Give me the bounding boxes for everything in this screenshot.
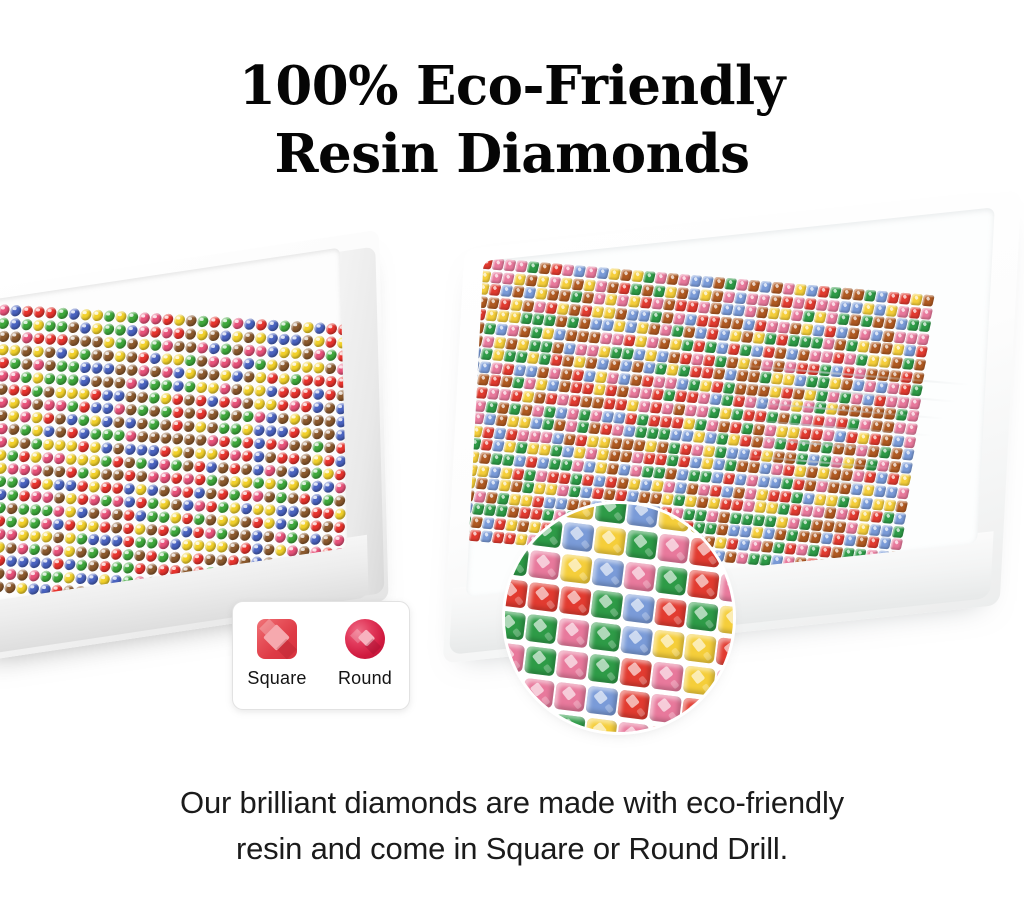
zoom-drill-bead: [685, 601, 718, 631]
zoom-drill-bead: [653, 597, 686, 627]
drill-bead: [136, 418, 149, 430]
drill-bead: [147, 471, 160, 483]
drill-bead: [0, 423, 8, 435]
drill-bead: [171, 433, 184, 445]
drill-bead: [157, 551, 170, 563]
drill-bead: [207, 356, 220, 368]
zoom-drill-bead: [717, 605, 733, 635]
drill-bead: [466, 359, 468, 371]
drill-bead: [8, 371, 21, 383]
drill-bead: [111, 509, 124, 521]
drill-bead: [68, 321, 81, 333]
zoom-drill-bead: [658, 504, 691, 532]
drill-bead: [171, 420, 184, 432]
drill-bead: [466, 308, 475, 320]
drill-bead: [41, 505, 54, 517]
drill-bead: [208, 316, 221, 328]
drill-bead: [195, 408, 208, 420]
drill-bead: [88, 507, 101, 519]
drill-bead: [64, 493, 77, 505]
drill-bead: [125, 377, 138, 389]
drill-bead: [311, 428, 324, 440]
drill-bead: [0, 396, 9, 408]
drill-bead: [87, 520, 100, 532]
drill-bead: [255, 319, 268, 331]
drill-bead: [918, 320, 931, 332]
drill-bead: [195, 395, 208, 407]
zoom-drill-bead: [525, 614, 558, 644]
zoom-drill-bead: [554, 682, 587, 712]
drill-bead: [21, 319, 34, 331]
drill-bead: [275, 492, 288, 504]
drill-bead: [138, 325, 151, 337]
drill-bead: [53, 466, 66, 478]
drill-bead: [149, 352, 162, 364]
square-drill-gem-icon: [257, 619, 297, 659]
zoom-drill-bead: [679, 729, 712, 732]
drill-bead: [135, 497, 148, 509]
drill-bead: [288, 426, 301, 438]
drill-bead: [111, 495, 124, 507]
drill-bead: [21, 332, 34, 344]
drill-bead: [895, 500, 908, 512]
drill-bead: [6, 503, 19, 515]
drill-bead: [278, 360, 291, 372]
drill-bead: [32, 359, 45, 371]
drill-bead: [172, 393, 185, 405]
drill-bead: [323, 455, 336, 467]
drill-bead: [264, 478, 277, 490]
drill-bead: [122, 549, 135, 561]
drill-bead: [64, 519, 77, 531]
drill-bead: [218, 396, 231, 408]
drill-bead: [159, 432, 172, 444]
zoom-drill-bead: [626, 504, 659, 528]
drill-bead: [921, 295, 934, 307]
drill-bead: [252, 504, 265, 516]
drill-bead: [5, 542, 18, 554]
drill-bead: [278, 333, 291, 345]
drill-bead: [267, 320, 280, 332]
drill-bead: [466, 321, 473, 333]
drill-bead: [334, 495, 347, 507]
drill-bead: [170, 472, 183, 484]
drill-bead: [90, 389, 103, 401]
drill-bead: [28, 570, 41, 582]
drill-bead: [312, 375, 325, 387]
drill-bead: [28, 583, 41, 595]
drill-bead: [42, 426, 55, 438]
drill-bead: [113, 403, 126, 415]
drill-bead: [323, 442, 336, 454]
drill-bead: [112, 430, 125, 442]
drill-bead: [137, 365, 150, 377]
drill-bead: [322, 508, 335, 520]
drill-bead: [169, 538, 182, 550]
drill-bead: [0, 344, 10, 356]
drill-bead: [288, 440, 301, 452]
drill-bead: [125, 391, 138, 403]
drill-bead: [205, 488, 218, 500]
drill-bead: [32, 372, 45, 384]
drill-bead: [43, 412, 56, 424]
drill-bead: [123, 470, 136, 482]
drill-bead: [65, 480, 78, 492]
drill-bead: [160, 393, 173, 405]
zoom-drill-bead: [656, 533, 689, 563]
drill-bead: [183, 420, 196, 432]
drill-bead: [134, 536, 147, 548]
zoom-drill-bead: [505, 514, 531, 544]
drill-bead: [124, 457, 137, 469]
drill-bead: [103, 337, 116, 349]
drill-bead: [16, 582, 29, 594]
zoom-drill-bead: [587, 654, 620, 684]
drill-bead: [228, 515, 241, 527]
drill-bead: [312, 388, 325, 400]
drill-bead: [114, 364, 127, 376]
drill-bead: [55, 373, 68, 385]
drill-bead: [255, 332, 268, 344]
drill-bead: [133, 563, 146, 575]
drill-bead: [183, 394, 196, 406]
zoom-drill-bead: [520, 710, 553, 732]
drill-bead: [184, 368, 197, 380]
drill-bead: [31, 425, 44, 437]
drill-bead: [181, 526, 194, 538]
drill-bead: [102, 389, 115, 401]
drill-bead: [29, 491, 42, 503]
drill-bead: [136, 444, 149, 456]
drill-bead: [218, 409, 231, 421]
drill-bead: [114, 337, 127, 349]
round-drill-tray: [0, 262, 386, 630]
drill-bead: [242, 411, 255, 423]
drill-bead: [42, 439, 55, 451]
drill-bead: [264, 451, 277, 463]
drill-bead: [194, 474, 207, 486]
drill-bead: [219, 343, 232, 355]
drill-bead: [206, 422, 219, 434]
drill-bead: [466, 437, 470, 449]
drill-bead: [183, 407, 196, 419]
drill-bead: [218, 422, 231, 434]
drill-bead: [192, 540, 205, 552]
drill-bead: [313, 322, 326, 334]
drill-bead: [99, 534, 112, 546]
drill-bead: [19, 411, 32, 423]
drill-bead: [289, 374, 302, 386]
drill-bead: [466, 372, 467, 384]
drill-bead: [75, 546, 88, 558]
drill-bead: [467, 269, 480, 281]
drill-bead: [17, 503, 30, 515]
drill-bead: [126, 325, 139, 337]
drill-bead: [32, 333, 45, 345]
drill-bead: [5, 516, 18, 528]
drill-bead: [53, 479, 66, 491]
drill-bead: [100, 495, 113, 507]
drill-bead: [146, 497, 159, 509]
drill-bead: [312, 401, 325, 413]
drill-bead: [241, 463, 254, 475]
drill-bead: [52, 518, 65, 530]
drill-bead: [310, 480, 323, 492]
drill-bead: [216, 501, 229, 513]
drill-bead: [184, 341, 197, 353]
drill-bead: [206, 448, 219, 460]
drill-bead: [98, 561, 111, 573]
drill-bead: [123, 509, 136, 521]
drill-bead: [299, 493, 312, 505]
drill-bead: [216, 528, 229, 540]
drill-bead: [301, 348, 314, 360]
drill-bead: [20, 385, 33, 397]
drill-bead: [324, 402, 337, 414]
drill-bead: [30, 478, 43, 490]
drill-bead: [170, 459, 183, 471]
drill-bead: [173, 327, 186, 339]
drill-bead: [324, 376, 337, 388]
zoom-drill-bead: [684, 633, 717, 663]
drill-bead: [0, 304, 10, 316]
drill-bead: [21, 306, 34, 318]
drill-bead: [321, 521, 334, 533]
drill-bead: [240, 516, 253, 528]
drill-bead: [299, 467, 312, 479]
zoom-drill-bead: [718, 573, 733, 603]
drill-bead: [301, 388, 314, 400]
zoom-drill-bead: [714, 669, 733, 699]
drill-bead: [229, 463, 242, 475]
drill-bead: [67, 374, 80, 386]
drill-bead: [146, 537, 159, 549]
zoom-drill-bead: [619, 658, 652, 688]
round-drill-gem-icon: [345, 619, 385, 659]
drill-bead: [64, 532, 77, 544]
zoom-drill-bead: [561, 522, 594, 552]
drill-bead: [63, 545, 76, 557]
drill-bead: [311, 454, 324, 466]
drill-bead: [289, 361, 302, 373]
zoom-drill-bead: [712, 701, 733, 731]
drill-bead: [220, 317, 233, 329]
drill-bead: [87, 547, 100, 559]
zoom-drill-bead: [552, 714, 585, 732]
drill-bead: [216, 515, 229, 527]
drill-bead: [299, 453, 312, 465]
drill-bead: [75, 533, 88, 545]
drill-bead: [54, 400, 67, 412]
drill-bead: [241, 424, 254, 436]
drill-bead: [30, 464, 43, 476]
drill-bead: [229, 449, 242, 461]
drill-bead: [41, 518, 54, 530]
drill-bead: [110, 535, 123, 547]
drill-bead: [40, 571, 53, 583]
drill-bead: [194, 447, 207, 459]
drill-bead: [145, 563, 158, 575]
drill-bead: [466, 334, 472, 346]
drill-bead: [263, 504, 276, 516]
drill-bead: [217, 488, 230, 500]
drill-bead: [903, 436, 916, 448]
drill-bead: [149, 339, 162, 351]
drill-bead: [16, 556, 29, 568]
drill-bead: [241, 437, 254, 449]
drill-bead: [123, 483, 136, 495]
drill-bead: [31, 385, 44, 397]
zoom-drill-bead: [526, 582, 559, 612]
drill-bead: [288, 453, 301, 465]
drill-bead: [182, 460, 195, 472]
drill-bead: [6, 476, 19, 488]
drill-bead: [113, 416, 126, 428]
drill-bead: [86, 573, 99, 585]
drill-bead: [915, 346, 928, 358]
drill-bead: [44, 346, 57, 358]
legend-item-square[interactable]: Square: [240, 619, 314, 689]
zoom-drill-bead: [505, 674, 523, 704]
drill-bead: [101, 429, 114, 441]
drill-bead: [67, 348, 80, 360]
drill-bead: [287, 479, 300, 491]
drill-bead: [90, 362, 103, 374]
drill-bead: [322, 468, 335, 480]
drill-bead: [266, 346, 279, 358]
drill-bead: [111, 482, 124, 494]
drill-bead: [40, 544, 53, 556]
drill-bead: [228, 489, 241, 501]
legend-label-round: Round: [338, 668, 392, 689]
drill-bead: [147, 445, 160, 457]
drill-bead: [0, 528, 6, 540]
drill-bead: [79, 348, 92, 360]
drill-bead: [158, 485, 171, 497]
drill-bead: [32, 346, 45, 358]
drill-bead: [89, 415, 102, 427]
drill-bead: [0, 331, 10, 343]
drill-bead: [298, 519, 311, 531]
drill-bead: [286, 519, 299, 531]
drill-bead: [44, 360, 57, 372]
drill-bead: [322, 494, 335, 506]
drill-bead: [890, 539, 903, 551]
drill-bead: [289, 387, 302, 399]
drill-bead: [254, 359, 267, 371]
drill-bead: [99, 521, 112, 533]
drill-bead: [468, 256, 481, 268]
drill-bead: [102, 363, 115, 375]
drill-bead: [77, 441, 90, 453]
drill-bead: [65, 453, 78, 465]
drill-bead: [8, 358, 21, 370]
drill-bead: [240, 503, 253, 515]
drill-bead: [255, 345, 268, 357]
drill-bead: [66, 427, 79, 439]
drill-bead: [161, 314, 174, 326]
zoom-drill-bead: [622, 594, 655, 624]
drill-bead: [66, 414, 79, 426]
drill-bead: [205, 501, 218, 513]
drill-bead: [242, 397, 255, 409]
drill-bead: [19, 437, 32, 449]
drill-bead: [264, 438, 277, 450]
drill-bead: [466, 295, 477, 307]
drill-bead: [102, 350, 115, 362]
drill-bead: [65, 466, 78, 478]
drill-bead: [204, 540, 217, 552]
drill-bead: [466, 424, 472, 436]
zoom-drill-bead: [563, 504, 596, 520]
drill-bead: [0, 489, 7, 501]
drill-bead: [240, 476, 253, 488]
drill-bead: [76, 493, 89, 505]
drill-bead: [79, 362, 92, 374]
drill-bead: [28, 543, 41, 555]
drill-bead: [207, 409, 220, 421]
legend-item-round[interactable]: Round: [328, 619, 402, 689]
drill-bead: [325, 336, 338, 348]
drill-bead: [66, 387, 79, 399]
drill-bead: [161, 340, 174, 352]
drill-bead: [124, 417, 137, 429]
drill-bead: [311, 467, 324, 479]
drill-bead: [252, 464, 265, 476]
zoom-drill-bead: [681, 697, 714, 727]
zoom-drill-bead: [647, 725, 680, 732]
drill-bead: [309, 533, 322, 545]
drill-bead: [111, 522, 124, 534]
drill-bead: [322, 481, 335, 493]
drill-bead: [275, 518, 288, 530]
drill-bead: [0, 370, 9, 382]
drill-bead: [207, 395, 220, 407]
drill-bead: [277, 399, 290, 411]
drill-bead: [253, 438, 266, 450]
drill-bead: [300, 414, 313, 426]
zoom-drill-bead: [590, 590, 623, 620]
drill-bead: [17, 530, 30, 542]
drill-bead: [243, 345, 256, 357]
drill-bead: [253, 451, 266, 463]
drill-bead: [45, 307, 58, 319]
drill-bead: [75, 573, 88, 585]
drill-bead: [89, 455, 102, 467]
zoom-drill-bead: [721, 509, 733, 539]
drill-bead: [276, 465, 289, 477]
drill-bead: [42, 465, 55, 477]
drill-bead: [89, 441, 102, 453]
zoom-drill-bead: [625, 530, 658, 560]
drill-bead: [219, 370, 232, 382]
drill-bead: [89, 428, 102, 440]
drill-bead: [276, 439, 289, 451]
drill-bead: [299, 480, 312, 492]
drill-bead: [334, 482, 347, 494]
drill-bead: [147, 484, 160, 496]
zoom-drill-bead: [652, 629, 685, 659]
drill-bead: [196, 368, 209, 380]
drill-bead: [217, 449, 230, 461]
drill-bead: [265, 399, 278, 411]
drill-bead: [102, 376, 115, 388]
drill-bead: [52, 505, 65, 517]
drill-bead: [146, 524, 159, 536]
drill-bead: [277, 373, 290, 385]
drill-bead: [122, 522, 135, 534]
drill-bead: [183, 434, 196, 446]
